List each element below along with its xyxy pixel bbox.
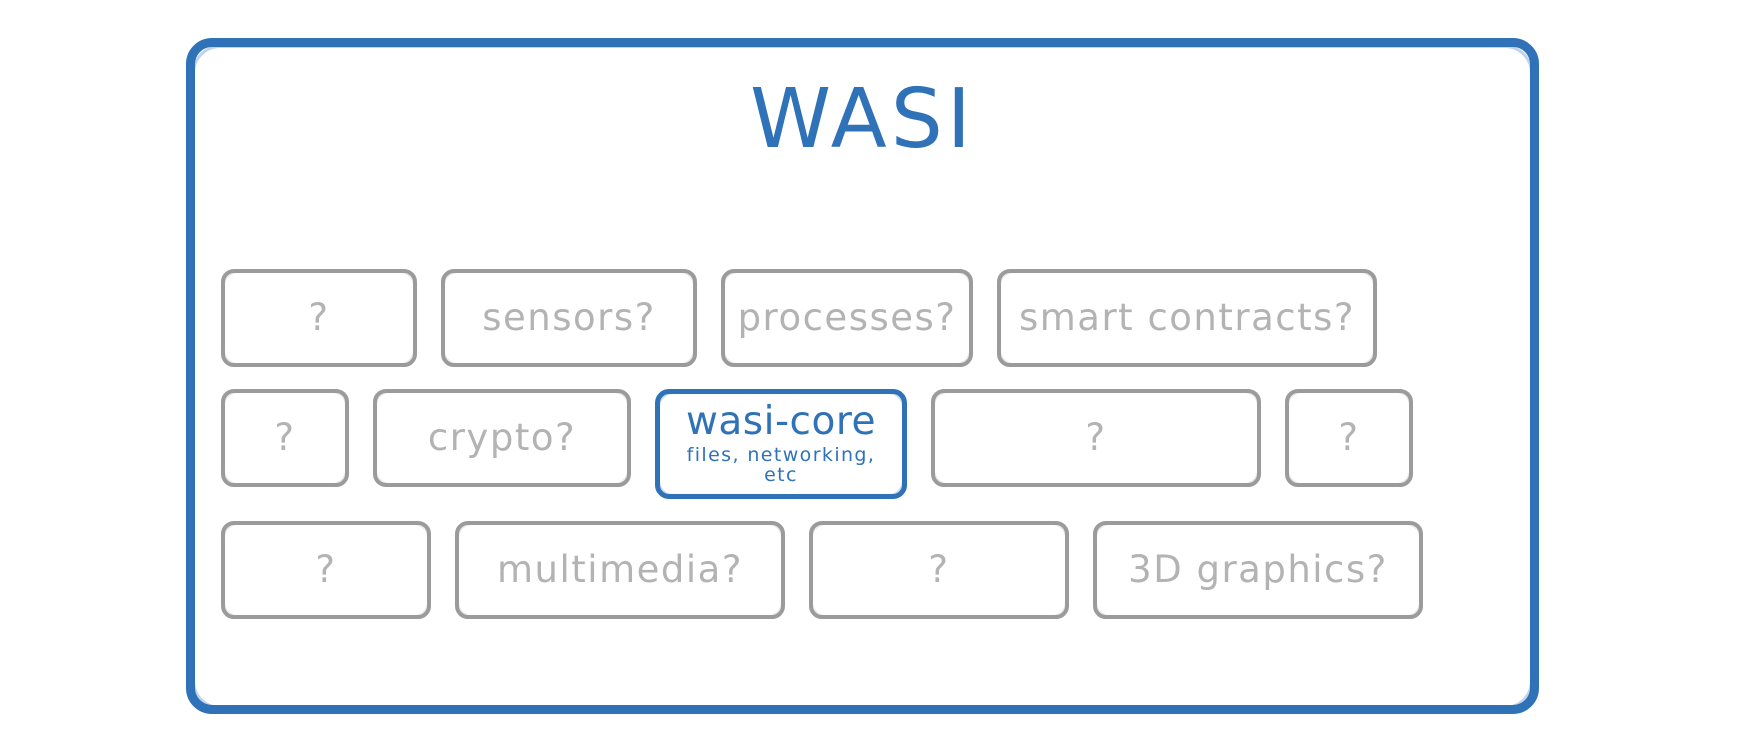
module-box-label: 3D graphics? (1128, 551, 1388, 590)
module-box-crypto[interactable]: crypto? (373, 389, 631, 487)
module-box-label: multimedia? (497, 551, 743, 590)
module-box-unknown-5[interactable]: ? (221, 521, 431, 619)
module-box-processes[interactable]: processes? (721, 269, 973, 367)
module-grid: ? sensors? processes? smart contracts? ?… (221, 269, 1504, 619)
module-box-3d-graphics[interactable]: 3D graphics? (1093, 521, 1423, 619)
module-row-1: ? sensors? processes? smart contracts? (221, 269, 1504, 367)
page-title: WASI (195, 79, 1530, 161)
module-box-unknown-3[interactable]: ? (931, 389, 1261, 487)
module-box-unknown-4[interactable]: ? (1285, 389, 1413, 487)
module-box-label: ? (315, 551, 336, 590)
module-box-label: smart contracts? (1019, 299, 1355, 338)
module-box-label: ? (1085, 419, 1106, 458)
module-box-label: crypto? (428, 419, 576, 458)
module-box-sublabel: files, networking, etc (674, 446, 888, 486)
module-box-unknown-1[interactable]: ? (221, 269, 417, 367)
module-box-label: ? (928, 551, 949, 590)
module-box-label: ? (1338, 419, 1359, 458)
module-row-2: ? crypto? wasi-core files, networking, e… (221, 389, 1504, 499)
module-box-unknown-2[interactable]: ? (221, 389, 349, 487)
module-box-unknown-6[interactable]: ? (809, 521, 1069, 619)
module-box-smart-contracts[interactable]: smart contracts? (997, 269, 1377, 367)
module-box-label: ? (274, 419, 295, 458)
module-box-label: ? (308, 299, 329, 338)
module-box-label: sensors? (482, 299, 656, 338)
module-box-wasi-core[interactable]: wasi-core files, networking, etc (655, 389, 907, 499)
module-row-3: ? multimedia? ? 3D graphics? (221, 521, 1504, 619)
module-box-sensors[interactable]: sensors? (441, 269, 697, 367)
module-box-label: wasi-core (686, 402, 876, 442)
module-box-label: processes? (738, 299, 957, 338)
wasi-outer-frame: WASI ? sensors? processes? smart contrac… (186, 38, 1539, 714)
module-box-multimedia[interactable]: multimedia? (455, 521, 785, 619)
